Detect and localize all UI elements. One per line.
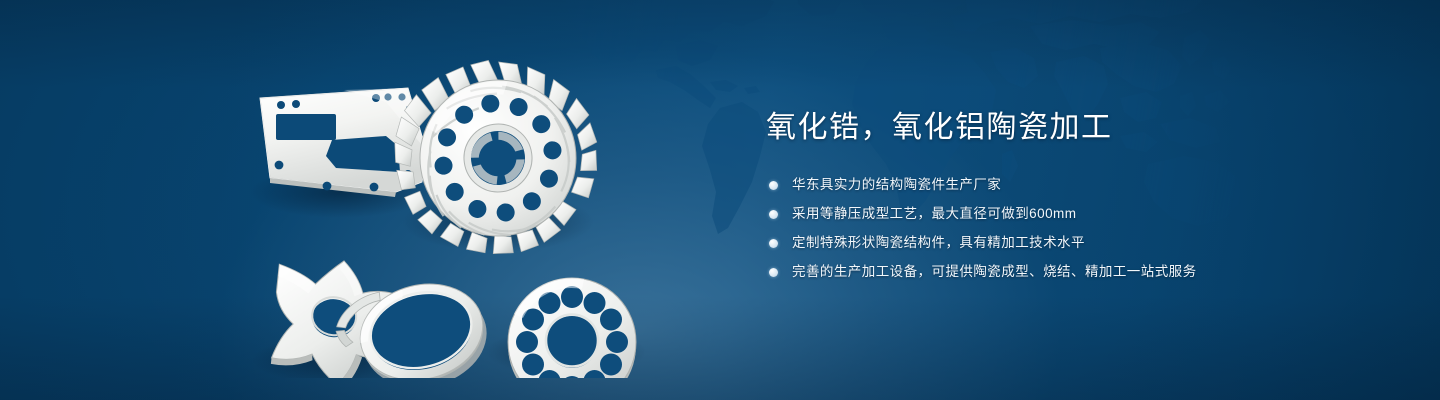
page-title: 氧化锆，氧化铝陶瓷加工 bbox=[766, 108, 1366, 148]
ceramic-ring-part bbox=[350, 271, 497, 378]
bullet-dot-icon bbox=[769, 239, 778, 248]
list-item: 华东具实力的结构陶瓷件生产厂家 bbox=[768, 174, 1366, 195]
bullet-dot-icon bbox=[769, 181, 778, 190]
feature-list: 华东具实力的结构陶瓷件生产厂家 采用等静压成型工艺，最大直径可做到600mm 定… bbox=[768, 174, 1366, 282]
list-item: 完善的生产加工设备，可提供陶瓷成型、烧结、精加工一站式服务 bbox=[768, 261, 1366, 282]
list-item: 定制特殊形状陶瓷结构件，具有精加工技术水平 bbox=[768, 232, 1366, 253]
banner-copy: 氧化锆，氧化铝陶瓷加工 华东具实力的结构陶瓷件生产厂家 采用等静压成型工艺，最大… bbox=[766, 108, 1366, 282]
feature-text: 华东具实力的结构陶瓷件生产厂家 bbox=[792, 177, 1001, 192]
list-item: 采用等静压成型工艺，最大直径可做到600mm bbox=[768, 203, 1366, 224]
bullet-dot-icon bbox=[769, 210, 778, 219]
feature-text: 定制特殊形状陶瓷结构件，具有精加工技术水平 bbox=[792, 235, 1085, 250]
feature-text: 完善的生产加工设备，可提供陶瓷成型、烧结、精加工一站式服务 bbox=[792, 264, 1197, 279]
ceramic-hole-disc-part bbox=[508, 278, 636, 378]
ceramic-products-collage bbox=[236, 42, 686, 378]
hero-banner: 氧化锆，氧化铝陶瓷加工 华东具实力的结构陶瓷件生产厂家 采用等静压成型工艺，最大… bbox=[0, 0, 1440, 400]
feature-text: 采用等静压成型工艺，最大直径可做到600mm bbox=[792, 206, 1076, 221]
bullet-dot-icon bbox=[769, 268, 778, 277]
